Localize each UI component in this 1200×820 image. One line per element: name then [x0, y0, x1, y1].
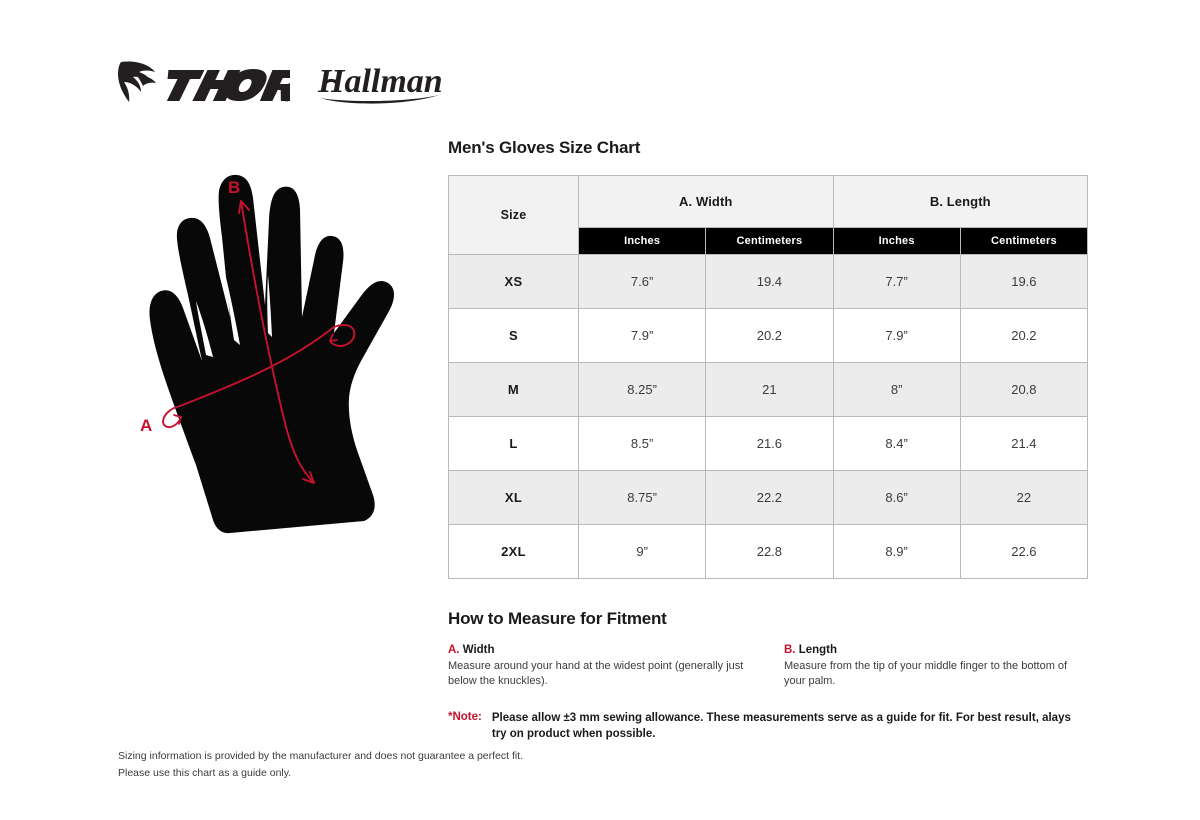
- thor-wordmark: [162, 69, 290, 101]
- label-b: B: [228, 178, 240, 197]
- cell-length-in: 7.7”: [833, 255, 960, 309]
- cell-width-cm: 22.8: [706, 525, 833, 579]
- column-header-length-centimeters: Centimeters: [960, 227, 1087, 254]
- cell-size: S: [449, 309, 579, 363]
- disclaimer-line-2: Please use this chart as a guide only.: [118, 765, 523, 782]
- cell-width-cm: 21: [706, 363, 833, 417]
- disclaimer-footer: Sizing information is provided by the ma…: [118, 748, 523, 782]
- cell-length-cm: 20.2: [960, 309, 1087, 363]
- measure-description-length: Measure from the tip of your middle fing…: [784, 659, 1088, 689]
- hallman-logo: Hallman: [316, 56, 448, 108]
- table-row: 2XL 9” 22.8 8.9” 22.6: [449, 525, 1088, 579]
- cell-width-in: 8.25”: [579, 363, 706, 417]
- column-header-length-inches: Inches: [833, 227, 960, 254]
- cell-length-in: 8”: [833, 363, 960, 417]
- table-row: S 7.9” 20.2 7.9” 20.2: [449, 309, 1088, 363]
- thor-helmet-icon: [118, 61, 156, 102]
- disclaimer-line-1: Sizing information is provided by the ma…: [118, 748, 523, 765]
- table-row: M 8.25” 21 8” 20.8: [449, 363, 1088, 417]
- cell-length-cm: 22: [960, 471, 1087, 525]
- size-chart-panel: Men's Gloves Size Chart Size A. Width B.…: [448, 138, 1088, 743]
- cell-size: M: [449, 363, 579, 417]
- cell-width-in: 8.75”: [579, 471, 706, 525]
- note-label: *Note:: [448, 711, 482, 723]
- cell-width-cm: 21.6: [706, 417, 833, 471]
- cell-length-in: 8.9”: [833, 525, 960, 579]
- table-header: Size A. Width B. Length Inches Centimete…: [449, 176, 1088, 255]
- page-title: Men's Gloves Size Chart: [448, 138, 1088, 158]
- cell-length-cm: 20.8: [960, 363, 1087, 417]
- measure-item-heading: A. Width: [448, 644, 752, 656]
- registered-mark: ®: [285, 97, 289, 104]
- hand-diagram-graphic: B A: [118, 165, 438, 535]
- table-row: XS 7.6” 19.4 7.7” 19.6: [449, 255, 1088, 309]
- note-text: Please allow ±3 mm sewing allowance. The…: [492, 711, 1072, 743]
- column-header-width-inches: Inches: [579, 227, 706, 254]
- hand-measurement-diagram: B A: [118, 165, 438, 535]
- measure-item-length: B. Length Measure from the tip of your m…: [784, 644, 1088, 689]
- cell-length-in: 8.4”: [833, 417, 960, 471]
- cell-width-in: 9”: [579, 525, 706, 579]
- measure-name-length: Length: [799, 644, 837, 656]
- note-row: *Note: Please allow ±3 mm sewing allowan…: [448, 711, 1088, 743]
- cell-length-in: 8.6”: [833, 471, 960, 525]
- table-row: XL 8.75” 22.2 8.6” 22: [449, 471, 1088, 525]
- label-a: A: [140, 416, 152, 435]
- brand-logo-bar: ® Hallman: [115, 52, 448, 112]
- how-to-measure-title: How to Measure for Fitment: [448, 609, 1088, 629]
- column-header-length: B. Length: [833, 176, 1088, 228]
- cell-size: L: [449, 417, 579, 471]
- measure-item-heading: B. Length: [784, 644, 1088, 656]
- size-chart-table: Size A. Width B. Length Inches Centimete…: [448, 175, 1088, 579]
- cell-length-cm: 22.6: [960, 525, 1087, 579]
- table-row: L 8.5” 21.6 8.4” 21.4: [449, 417, 1088, 471]
- column-header-width: A. Width: [579, 176, 834, 228]
- cell-size: XS: [449, 255, 579, 309]
- column-header-size: Size: [449, 176, 579, 255]
- cell-length-cm: 19.6: [960, 255, 1087, 309]
- cell-width-in: 7.6”: [579, 255, 706, 309]
- cell-size: XL: [449, 471, 579, 525]
- cell-length-in: 7.9”: [833, 309, 960, 363]
- measure-item-width: A. Width Measure around your hand at the…: [448, 644, 752, 689]
- cell-width-in: 7.9”: [579, 309, 706, 363]
- cell-length-cm: 21.4: [960, 417, 1087, 471]
- table-body: XS 7.6” 19.4 7.7” 19.6 S 7.9” 20.2 7.9” …: [449, 255, 1088, 579]
- header-row-groups: Size A. Width B. Length: [449, 176, 1088, 228]
- column-header-width-centimeters: Centimeters: [706, 227, 833, 254]
- thor-logo: ®: [115, 58, 290, 106]
- cell-width-cm: 19.4: [706, 255, 833, 309]
- measure-mark-a: A.: [448, 644, 460, 656]
- cell-width-in: 8.5”: [579, 417, 706, 471]
- measure-mark-b: B.: [784, 644, 796, 656]
- how-to-measure-section: How to Measure for Fitment A. Width Meas…: [448, 609, 1088, 743]
- thor-logo-graphic: ®: [115, 58, 290, 106]
- cell-width-cm: 20.2: [706, 309, 833, 363]
- measure-name-width: Width: [463, 644, 495, 656]
- cell-width-cm: 22.2: [706, 471, 833, 525]
- how-to-measure-columns: A. Width Measure around your hand at the…: [448, 644, 1088, 689]
- hand-silhouette-icon: [149, 175, 394, 533]
- hallman-logo-graphic: Hallman: [316, 56, 448, 108]
- measure-description-width: Measure around your hand at the widest p…: [448, 659, 752, 689]
- cell-size: 2XL: [449, 525, 579, 579]
